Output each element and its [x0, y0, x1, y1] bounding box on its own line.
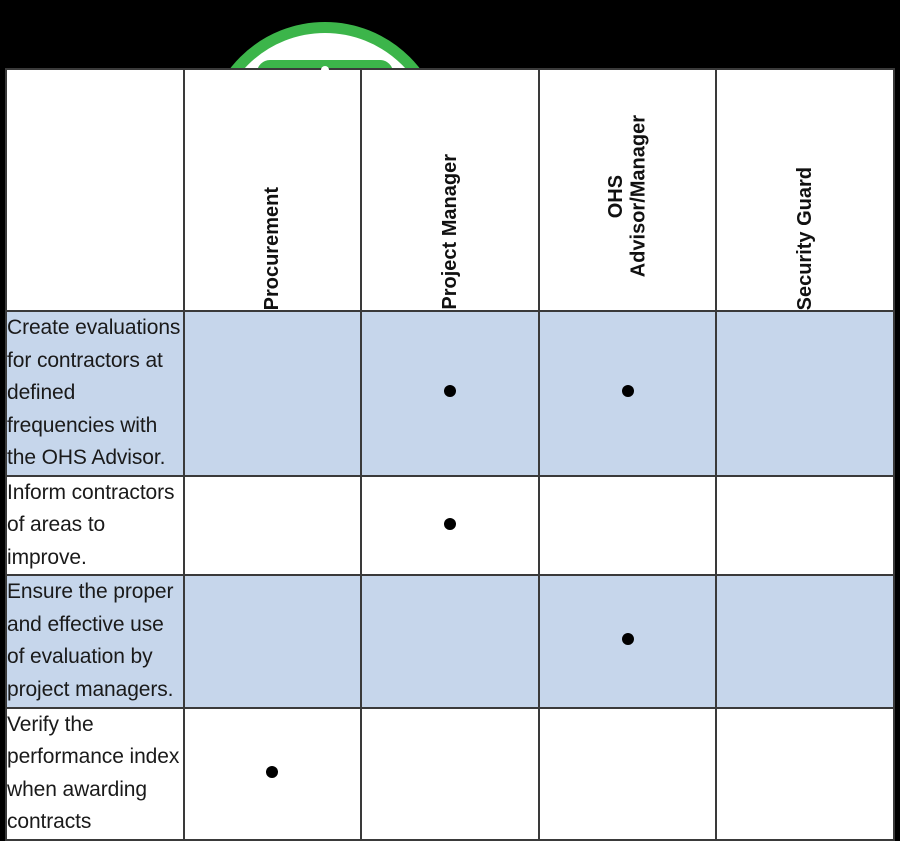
mark-cell-security-guard[interactable] [716, 708, 894, 840]
table-row: Ensure the proper and effective use of e… [6, 575, 894, 707]
mark-cell-procurement[interactable] [184, 311, 362, 476]
task-description: Ensure the proper and effective use of e… [6, 575, 184, 707]
column-header-label: Procurement [261, 187, 283, 310]
mark-cell-security-guard[interactable] [716, 311, 894, 476]
task-description: Verify the performance index when awardi… [6, 708, 184, 840]
header-corner-cell [6, 69, 184, 311]
marker-dot-icon [444, 385, 456, 397]
mark-cell-procurement[interactable] [184, 476, 362, 576]
column-header-label: OHS Advisor/Manager [605, 115, 650, 277]
mark-cell-project-manager[interactable] [361, 476, 539, 576]
mark-cell-procurement[interactable] [184, 708, 362, 840]
mark-cell-project-manager[interactable] [361, 575, 539, 707]
task-description: Create evaluations for contractors at de… [6, 311, 184, 476]
marker-dot-icon [444, 518, 456, 530]
mark-cell-ohs-advisor-manager[interactable] [539, 311, 717, 476]
column-header-project-manager: Project Manager [361, 69, 539, 311]
marker-dot-icon [622, 633, 634, 645]
table-row: Inform contractors of areas to improve. [6, 476, 894, 576]
marker-dot-icon [266, 766, 278, 778]
responsibility-matrix: Procurement Project Manager OHS Advisor/… [5, 68, 895, 595]
mark-cell-ohs-advisor-manager[interactable] [539, 575, 717, 707]
webcam-dot-icon [321, 66, 329, 74]
mark-cell-ohs-advisor-manager[interactable] [539, 476, 717, 576]
mark-cell-project-manager[interactable] [361, 311, 539, 476]
column-header-ohs-advisor-manager: OHS Advisor/Manager [539, 69, 717, 311]
mark-cell-procurement[interactable] [184, 575, 362, 707]
table-header-row: Procurement Project Manager OHS Advisor/… [6, 69, 894, 311]
responsibility-table: Procurement Project Manager OHS Advisor/… [5, 68, 895, 841]
mark-cell-security-guard[interactable] [716, 476, 894, 576]
column-header-label: Project Manager [439, 154, 461, 310]
mark-cell-ohs-advisor-manager[interactable] [539, 708, 717, 840]
marker-dot-icon [622, 385, 634, 397]
mark-cell-security-guard[interactable] [716, 575, 894, 707]
mark-cell-project-manager[interactable] [361, 708, 539, 840]
column-header-label: Security Guard [794, 167, 816, 310]
task-description: Inform contractors of areas to improve. [6, 476, 184, 576]
table-row: Verify the performance index when awardi… [6, 708, 894, 840]
table-row: Create evaluations for contractors at de… [6, 311, 894, 476]
column-header-procurement: Procurement [184, 69, 362, 311]
column-header-security-guard: Security Guard [716, 69, 894, 311]
